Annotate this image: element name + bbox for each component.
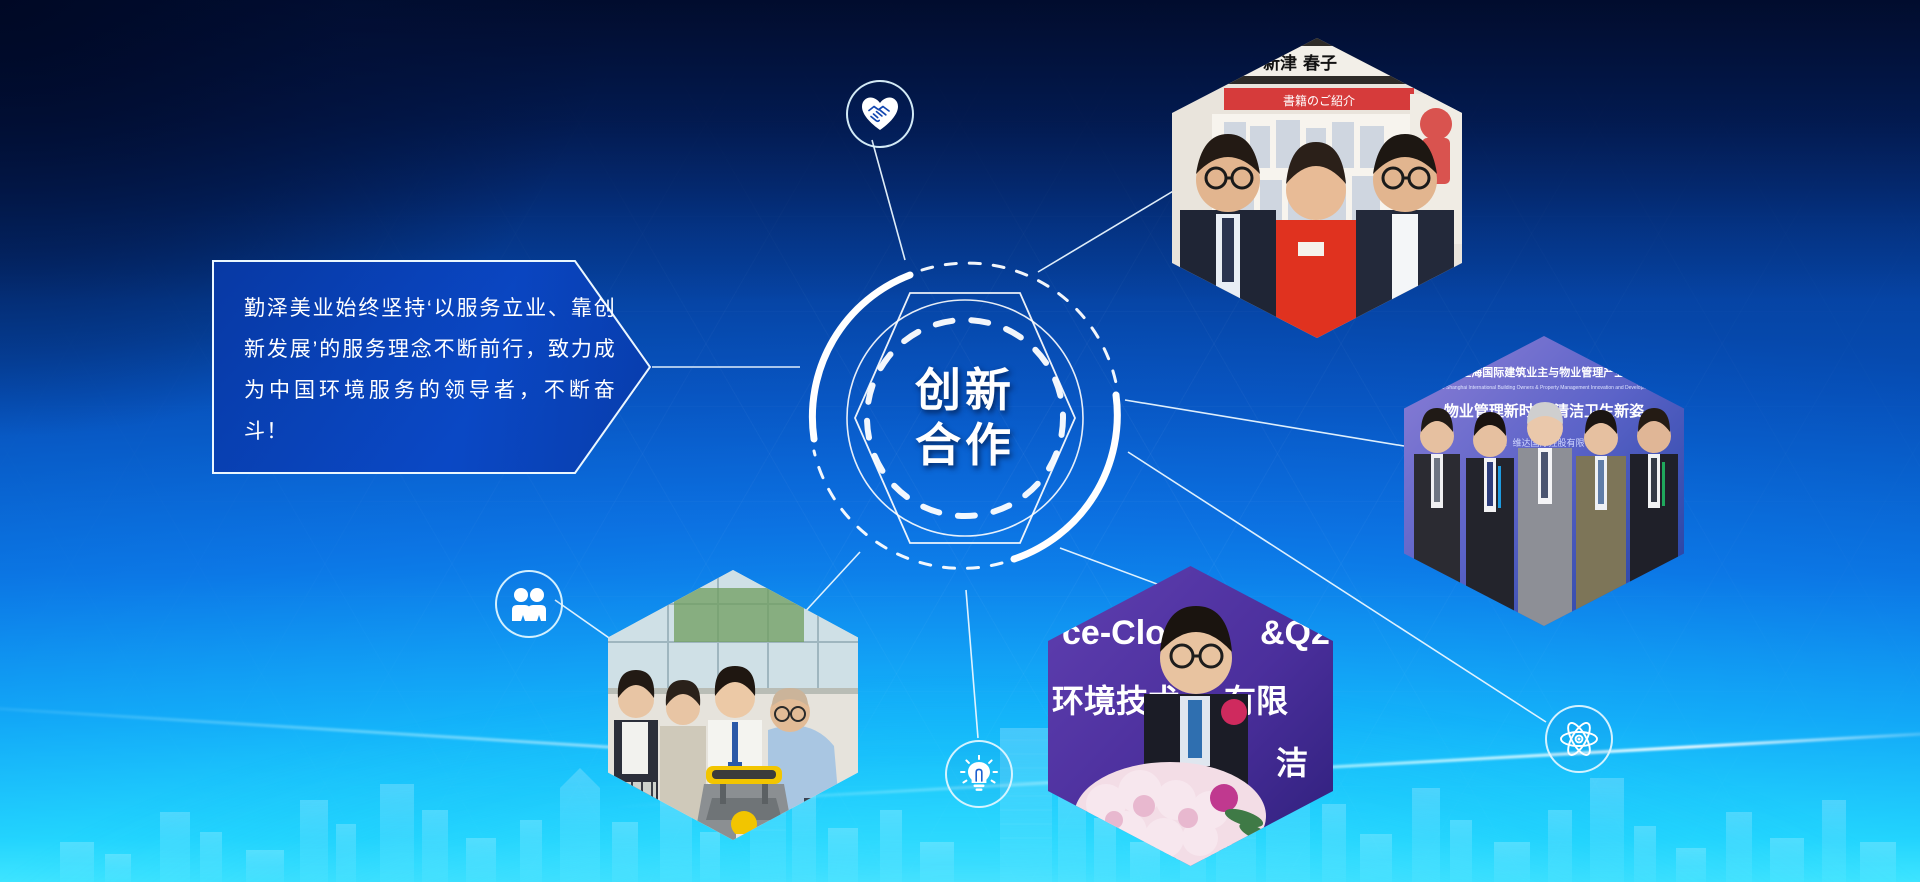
svg-text:書籍のご紹介: 書籍のご紹介 — [1283, 93, 1355, 108]
photo-floor-scrubber-demo[interactable] — [608, 570, 858, 840]
two-people-icon — [511, 587, 547, 621]
photo-scene — [608, 570, 858, 840]
two-people-icon-node[interactable] — [495, 570, 563, 638]
lightbulb-icon-node[interactable] — [945, 740, 1013, 808]
lightbulb-icon — [960, 755, 998, 793]
photo-scene: 新津 春子 全仕事 書籍のご紹介 — [1172, 38, 1462, 338]
svg-text:洁: 洁 — [1276, 744, 1308, 782]
handshake-heart-icon-node[interactable] — [846, 80, 914, 148]
hex-photo-clip — [608, 570, 858, 840]
center-title: 创新 合作 — [790, 243, 1140, 593]
svg-text:&Q2: &Q2 — [1260, 614, 1330, 652]
hex-photo-clip: 新津 春子 全仕事 書籍のご紹介 — [1172, 38, 1462, 338]
handshake-heart-icon — [861, 95, 899, 133]
hex-photo-clip: 2019上海国际建筑业主与物业管理产业创新发 2019 Shanghai Int… — [1404, 336, 1684, 626]
svg-text:ce-Clo: ce-Clo — [1062, 614, 1166, 652]
svg-text:新津 春子: 新津 春子 — [1263, 53, 1337, 74]
photo-keynote-speaker[interactable]: ce-Clo &Q2 环境技术 有限 洁 服务业联盟系列活 — [1048, 566, 1333, 866]
center-emblem: 创新 合作 — [790, 243, 1140, 593]
banner-stage: 创新 合作 勤泽美业始终坚持‘以服务立业、靠创新发展’的服务理念不断前行，致力成… — [0, 0, 1920, 882]
svg-text:2019 Shanghai International Bu: 2019 Shanghai International Building Own… — [1434, 385, 1656, 391]
svg-text:2019上海国际建筑业主与物业管理产业创新发: 2019上海国际建筑业主与物业管理产业创新发 — [1430, 365, 1660, 379]
svg-text:全仕事: 全仕事 — [1404, 53, 1440, 68]
center-title-line1: 创新 — [915, 366, 1015, 415]
hex-photo-clip: ce-Clo &Q2 环境技术 有限 洁 服务业联盟系列活 — [1048, 566, 1333, 866]
center-title-line2: 合作 — [915, 421, 1015, 470]
atom-icon-node[interactable] — [1545, 705, 1613, 773]
photo-shanghai-forum-2019[interactable]: 2019上海国际建筑业主与物业管理产业创新发 2019 Shanghai Int… — [1404, 336, 1684, 626]
photo-japan-bookstore[interactable]: 新津 春子 全仕事 書籍のご紹介 — [1172, 38, 1462, 338]
photo-scene: 2019上海国际建筑业主与物业管理产业创新发 2019 Shanghai Int… — [1404, 336, 1684, 626]
info-panel-text: 勤泽美业始终坚持‘以服务立业、靠创新发展’的服务理念不断前行，致力成为中国环境服… — [244, 288, 616, 452]
atom-icon — [1559, 719, 1599, 759]
photo-scene: ce-Clo &Q2 环境技术 有限 洁 服务业联盟系列活 — [1048, 566, 1333, 866]
